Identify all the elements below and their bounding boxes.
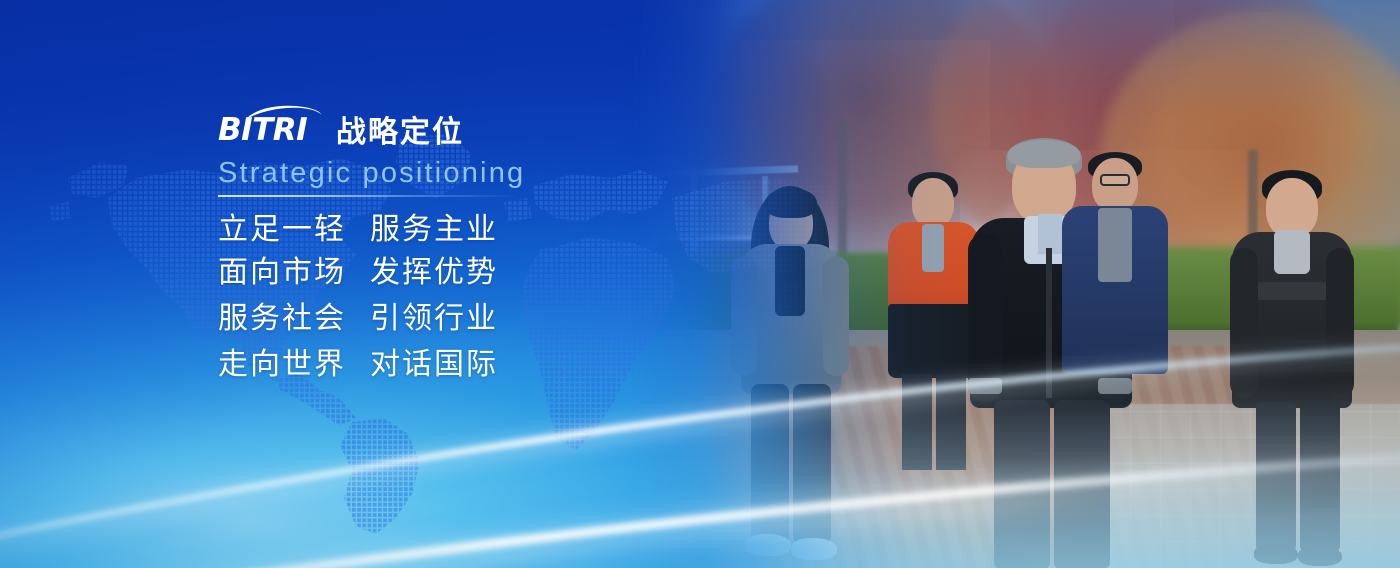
slogan-line: 服务社会 引领行业 (218, 304, 738, 334)
bitri-wordmark: BITRI (218, 115, 307, 146)
slogan-left: 立足一轻 (218, 215, 370, 245)
logo-row: BITRI 战略定位 (218, 104, 738, 150)
slogan-left: 走向世界 (218, 350, 370, 380)
slogan-left: 服务社会 (218, 304, 370, 334)
photo-top-fade (630, 0, 1400, 120)
bitri-logo: BITRI (218, 104, 322, 150)
slogan-list: 立足一轻 服务主业 面向市场 发挥优势 服务社会 引领行业 走向世界 对话国际 (218, 215, 738, 380)
slogan-right: 对话国际 (370, 350, 498, 380)
headline-block: BITRI 战略定位 Strategic positioning 立足一轻 服务… (218, 104, 738, 393)
strategic-positioning-banner: BITRI 战略定位 Strategic positioning 立足一轻 服务… (0, 0, 1400, 568)
slogan-line: 立足一轻 服务主业 (218, 215, 738, 245)
slogan-line: 面向市场 发挥优势 (218, 258, 738, 288)
slogan-right: 发挥优势 (370, 258, 498, 288)
slogan-left: 面向市场 (218, 258, 370, 288)
headline-divider (218, 195, 518, 197)
slogan-line: 走向世界 对话国际 (218, 350, 738, 380)
slogan-right: 引领行业 (370, 304, 498, 334)
slogan-right: 服务主业 (370, 215, 498, 245)
headline-subtitle-en: Strategic positioning (218, 157, 738, 189)
headline-title-cn: 战略定位 (336, 118, 464, 150)
